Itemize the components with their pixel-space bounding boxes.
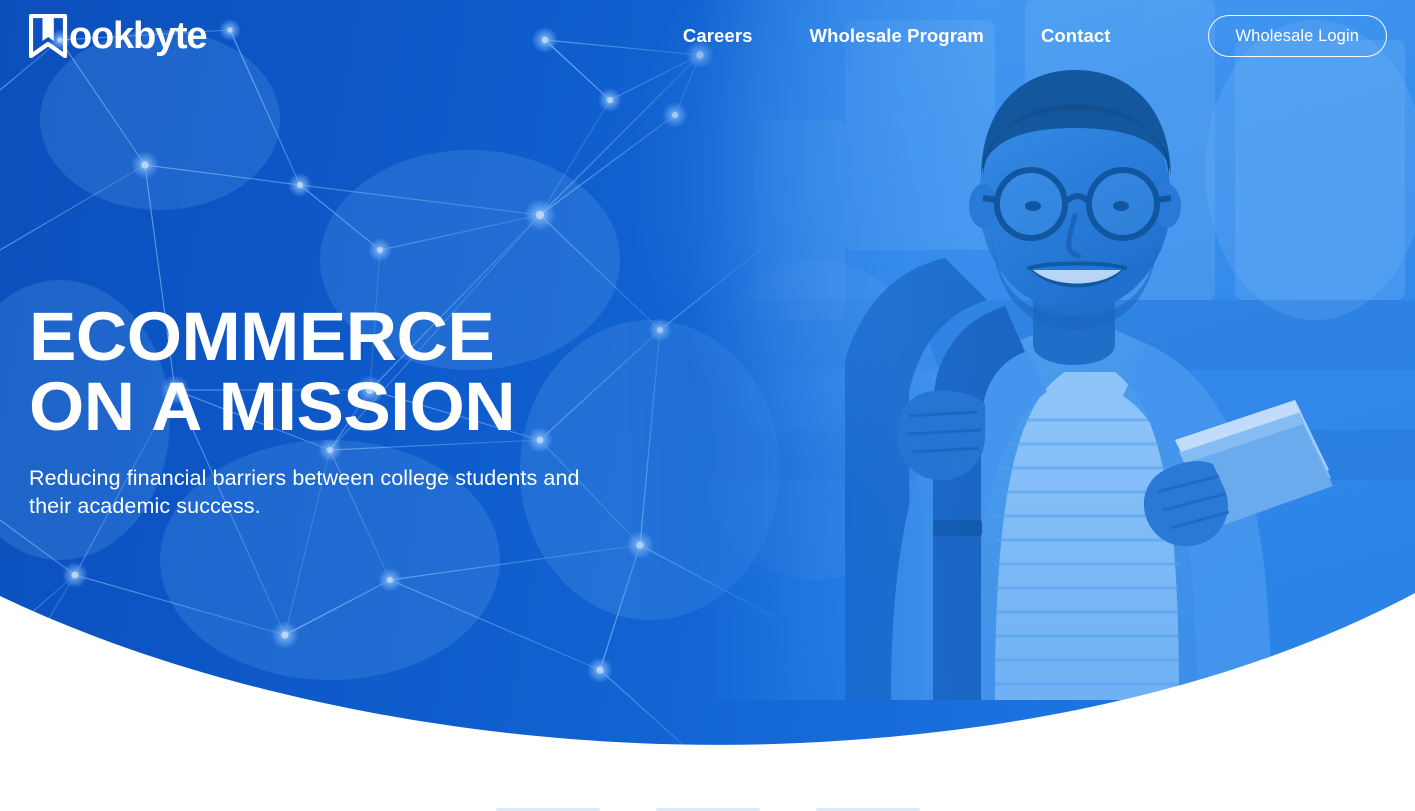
hero-content: Ecommerce on a Mission Reducing financia… bbox=[29, 302, 669, 520]
nav-link-contact[interactable]: Contact bbox=[1041, 19, 1111, 53]
site-header: ookbyte Bookbyte Careers Wholesale Progr… bbox=[0, 0, 1415, 72]
hero-subheadline: Reducing financial barriers between coll… bbox=[29, 464, 589, 520]
below-fold-cards-peek bbox=[0, 771, 1415, 811]
nav-link-careers[interactable]: Careers bbox=[683, 19, 753, 53]
main-navigation: Careers Wholesale Program Contact Wholes… bbox=[683, 15, 1387, 57]
wholesale-login-button[interactable]: Wholesale Login bbox=[1208, 15, 1388, 57]
book-bookmark-icon: ookbyte bbox=[29, 14, 225, 58]
hero-section: ookbyte Bookbyte Careers Wholesale Progr… bbox=[0, 0, 1415, 811]
hero-headline: Ecommerce on a Mission bbox=[29, 302, 688, 442]
svg-text:ookbyte: ookbyte bbox=[69, 15, 206, 57]
nav-link-wholesale-program[interactable]: Wholesale Program bbox=[810, 19, 984, 53]
bookbyte-logo[interactable]: ookbyte Bookbyte bbox=[29, 14, 225, 58]
